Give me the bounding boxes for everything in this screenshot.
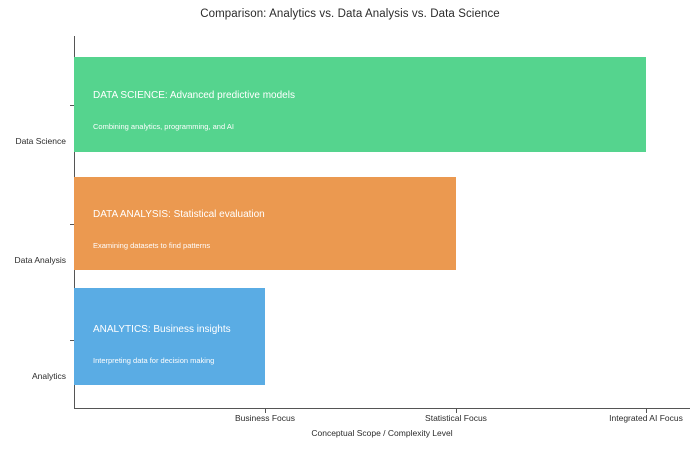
x-axis-spine	[74, 408, 690, 409]
x-axis-title: Conceptual Scope / Complexity Level	[74, 428, 690, 438]
plot-area: DATA SCIENCE: Advanced predictive models…	[74, 36, 690, 408]
y-tick-label-data-science: Data Science	[0, 136, 66, 146]
bar-label-data-science-sub: Combining analytics, programming, and AI	[93, 122, 234, 131]
bar-label-data-analysis-main: DATA ANALYSIS: Statistical evaluation	[93, 209, 265, 220]
chart-title: Comparison: Analytics vs. Data Analysis …	[0, 8, 700, 20]
y-tick-mark-data-science	[70, 105, 74, 106]
chart-figure: Comparison: Analytics vs. Data Analysis …	[0, 0, 700, 450]
y-tick-mark-data-analysis	[70, 224, 74, 225]
y-tick-label-analytics: Analytics	[0, 371, 66, 381]
x-tick-label-business-focus: Business Focus	[185, 413, 345, 423]
bar-label-analytics-main: ANALYTICS: Business insights	[93, 324, 231, 335]
bar-label-data-science-main: DATA SCIENCE: Advanced predictive models	[93, 90, 295, 101]
x-tick-label-statistical-focus: Statistical Focus	[376, 413, 536, 423]
bar-analytics[interactable]: ANALYTICS: Business insights Interpretin…	[74, 288, 265, 385]
y-tick-mark-analytics	[70, 340, 74, 341]
bar-data-analysis[interactable]: DATA ANALYSIS: Statistical evaluation Ex…	[74, 177, 456, 270]
x-tick-label-integrated-ai-focus: Integrated AI Focus	[566, 413, 700, 423]
y-tick-label-data-analysis: Data Analysis	[0, 255, 66, 265]
bar-data-science[interactable]: DATA SCIENCE: Advanced predictive models…	[74, 57, 646, 152]
bar-label-analytics-sub: Interpreting data for decision making	[93, 356, 214, 365]
bar-label-data-analysis-sub: Examining datasets to find patterns	[93, 241, 210, 250]
